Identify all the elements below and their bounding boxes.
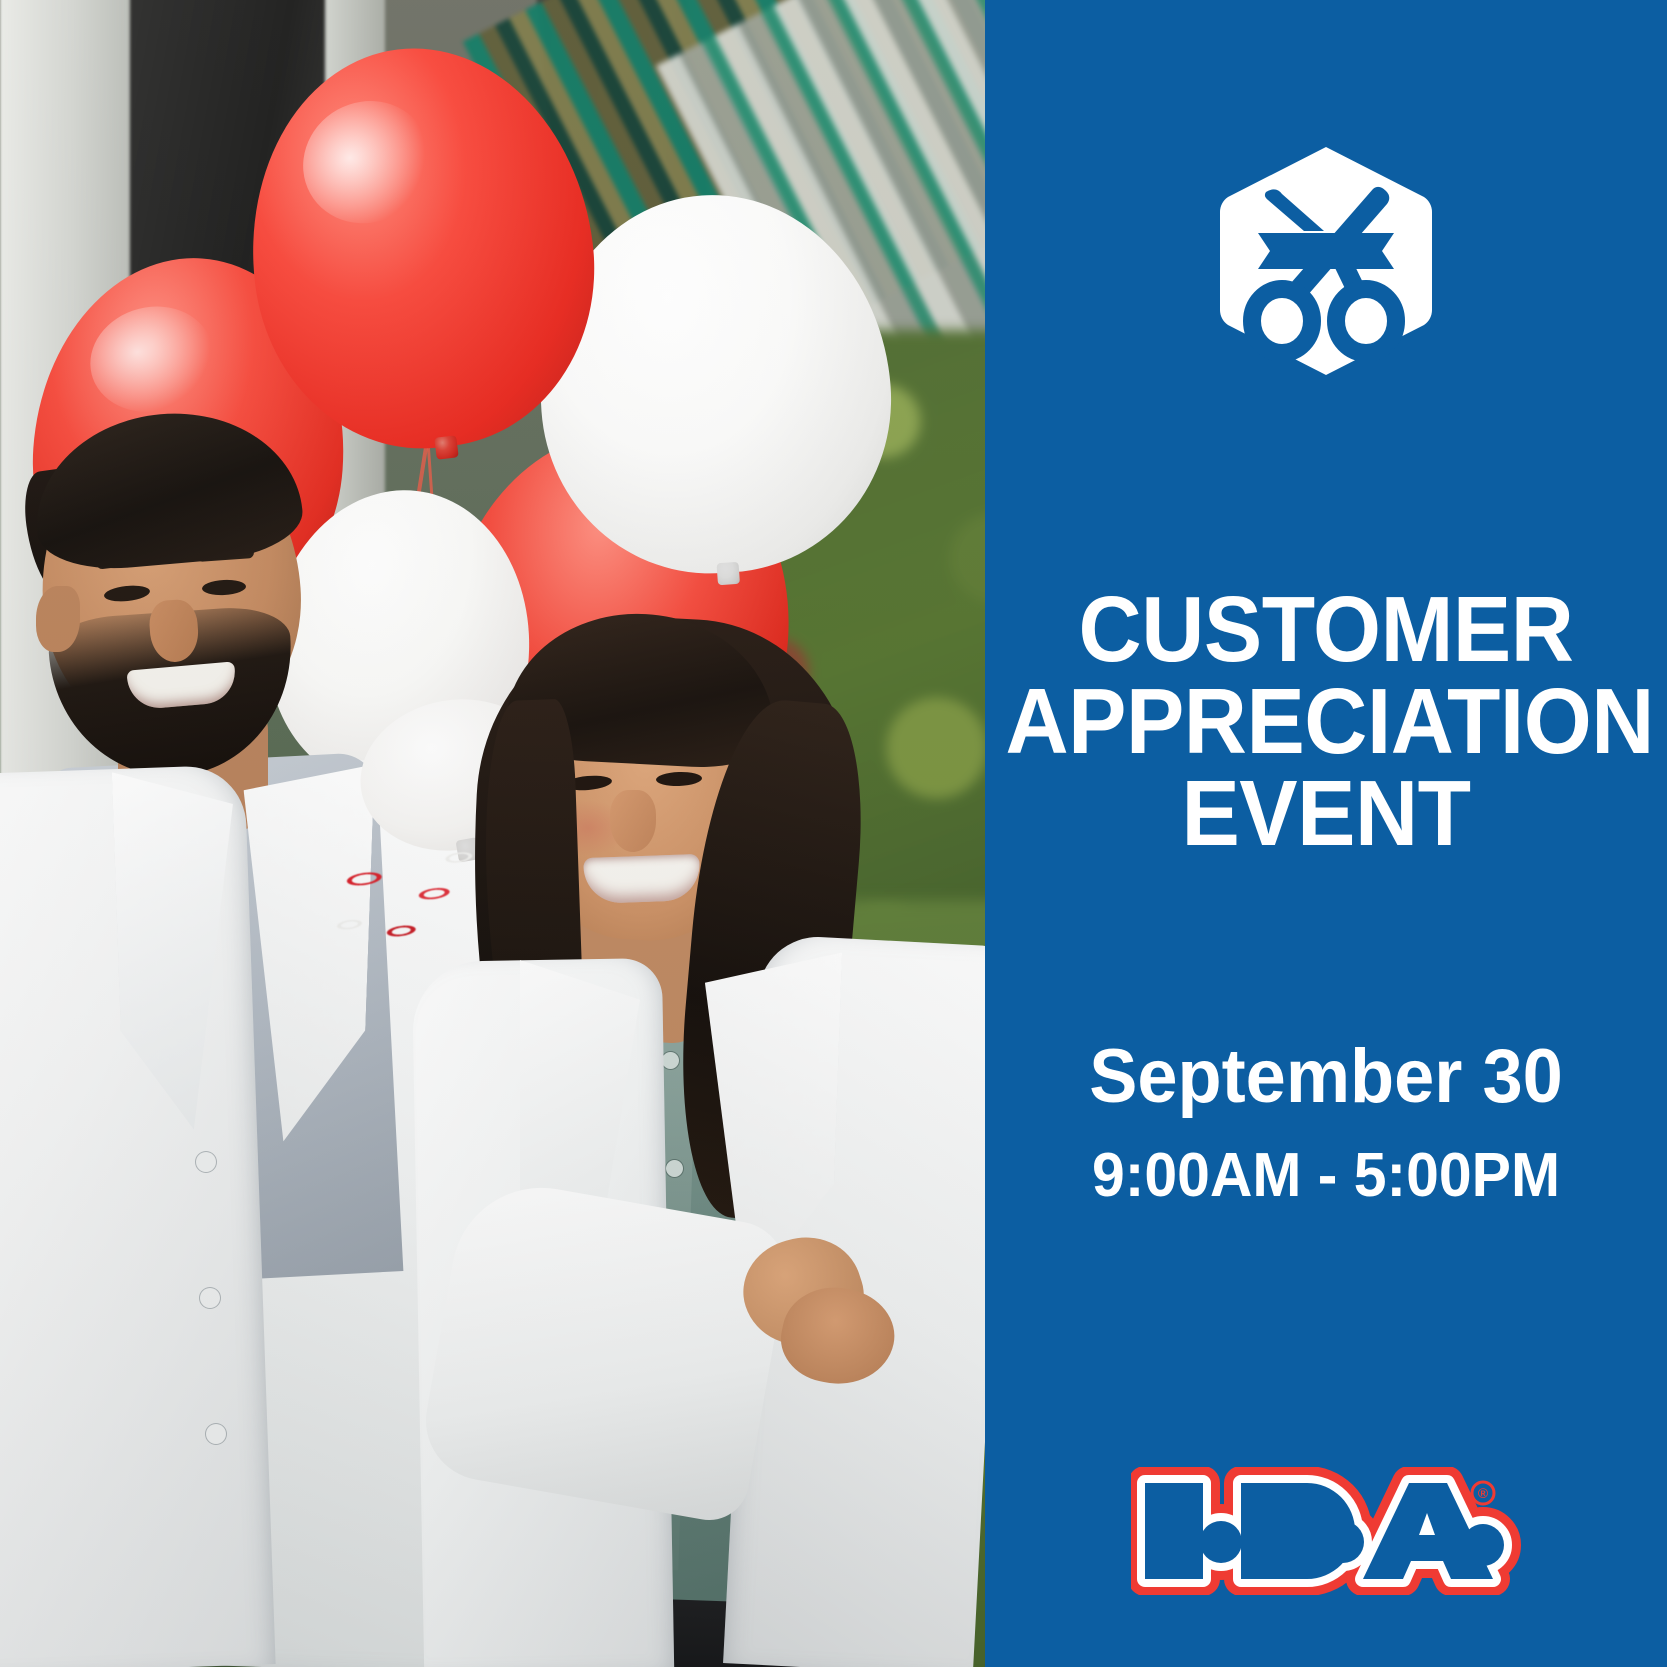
balloon-highlight [79, 294, 225, 425]
ear [36, 586, 80, 652]
headline-line-2: APPRECIATION [1005, 675, 1646, 767]
blouse-button [666, 1160, 683, 1177]
event-datetime: September 30 9:00AM - 5:00PM [985, 1039, 1667, 1207]
info-panel: CUSTOMER APPRECIATION EVENT September 30… [985, 0, 1667, 1667]
balloon-highlight [281, 78, 452, 246]
headline-line-1: CUSTOMER [1005, 583, 1646, 675]
promotional-poster: CUSTOMER APPRECIATION EVENT September 30… [0, 0, 1667, 1667]
blouse-button [662, 1052, 679, 1069]
coat-button [196, 1152, 216, 1172]
nose [610, 790, 656, 852]
coat-button [206, 1424, 226, 1444]
ida-pharmacy-logo: ® [1131, 1467, 1521, 1595]
event-photo [0, 0, 985, 1667]
event-time: 9:00AM - 5:00PM [1002, 1145, 1650, 1207]
event-date: September 30 [1002, 1039, 1650, 1115]
coat-button [200, 1288, 220, 1308]
headline-line-3: EVENT [1005, 767, 1646, 859]
registered-trademark-symbol: ® [1478, 1485, 1489, 1501]
ribbon-cutting-scissors-hexagon-icon [1218, 145, 1434, 377]
lab-coat-sleeve [416, 1174, 793, 1527]
page-title: CUSTOMER APPRECIATION EVENT [1005, 583, 1646, 859]
